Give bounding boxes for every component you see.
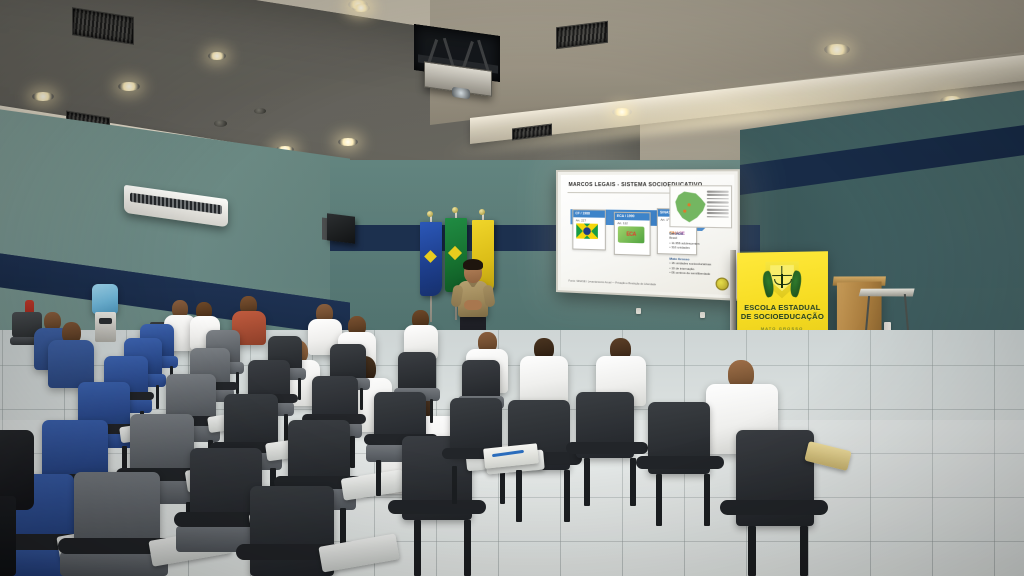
presentation-slide: MARCOS LEGAIS - SISTEMA SOCIOEDUCATIVO C… [561,175,735,296]
wall-outlet-icon [700,312,705,318]
slide-milestone-card: ECA / 1990 Art. 112 [614,212,651,256]
ceiling-downlight [338,138,358,146]
attendee-shirt [48,340,94,388]
ceiling-downlight [208,52,226,60]
flag-finial-icon [452,207,458,213]
water-cooler-bottle [92,284,118,314]
ceiling-downlight [118,82,140,91]
slide-seal-icon [716,277,729,290]
coat-of-arms-icon [761,260,802,300]
presenter-hands [464,300,482,310]
slide-footnote: Fonte: SINASE / Levantamento Anual — Pri… [568,280,656,287]
banner-title: ESCOLA ESTADUAL DE SOCIOEDUCAÇÃO [737,304,828,322]
slide-milestone-article: Art. 112 [617,221,627,225]
flag-brazil-icon [576,223,598,239]
wall-speaker [327,213,355,243]
eca-logo-icon [618,226,645,243]
ceiling-speaker-icon [214,120,227,127]
brazil-map-figure [669,185,732,228]
slide-stats-line: • 06 centros de semiliberdade [669,270,711,276]
water-cooler [95,312,116,342]
ceiling-speaker-icon [254,108,266,114]
slide-stats-line: • 316 unidades [669,245,699,250]
banner-title-line-2: DE SOCIOEDUCAÇÃO [737,313,828,322]
air-conditioner-grille-icon [130,193,222,215]
flag-finial-icon [479,209,485,215]
slide-milestone-card: CF / 1988 Art. 227 [572,209,605,250]
ceiling-downlight [352,4,370,12]
side-table [859,289,915,297]
map-marker-icon [683,210,686,213]
presenter-hair [463,259,483,270]
ceiling-downlight [612,108,632,116]
slide-milestone-article: Art. 227 [576,218,586,222]
ceiling-downlight [32,92,54,101]
brazil-map-icon [675,192,707,223]
map-marker-icon [687,203,690,206]
foreground-person-leg [0,496,16,576]
slide-milestone-header: ECA / 1990 [615,213,650,220]
wall-outlet-icon [636,308,641,314]
auditorium-photo: MARCOS LEGAIS - SISTEMA SOCIOEDUCATIVO C… [0,0,1024,576]
ceiling-downlight [824,44,850,55]
map-legend [707,191,729,220]
slide-milestone-header: CF / 1988 [573,210,604,217]
slide-stats-block: Em 2023 Brasil • 11.356 adolescentes • 3… [669,231,699,250]
projection-screen: MARCOS LEGAIS - SISTEMA SOCIOEDUCATIVO C… [556,169,740,301]
flag-finial-icon [427,211,433,217]
water-cooler-tap-icon [99,318,112,324]
slide-stats-block: Mato Grosso • 16 unidades socioeducativa… [669,257,711,277]
attendee-shirt [520,356,568,404]
slide-milestone-article: Art. 1º [660,218,669,222]
